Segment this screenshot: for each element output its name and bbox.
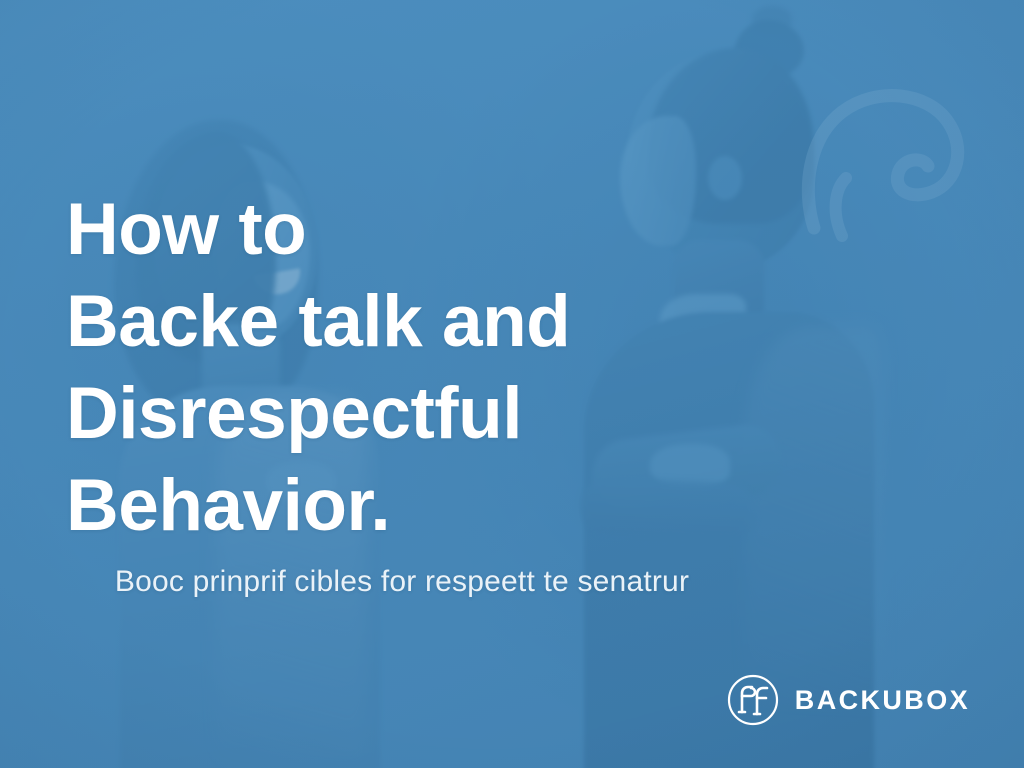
page-title: How to Backe talk and Disrespectful Beha… [66,184,826,552]
page-subtitle: Booc prinprif cibles for respeett te sen… [66,560,738,603]
title-slide: How to Backe talk and Disrespectful Beha… [0,0,1024,768]
brand-wordmark: BACKUBOX [795,687,970,714]
slide-content: How to Backe talk and Disrespectful Beha… [0,0,1024,768]
brand-logo: BACKUBOX [727,674,970,726]
pf-monogram-circle-icon [727,674,779,726]
